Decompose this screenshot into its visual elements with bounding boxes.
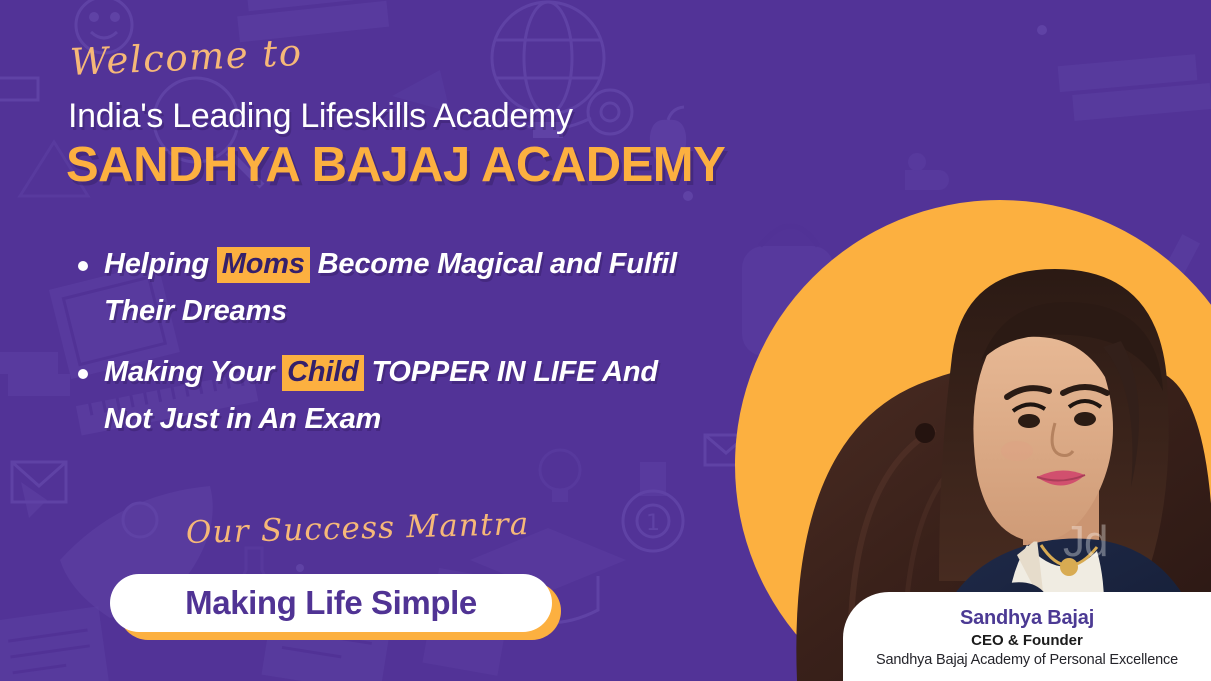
mantra-pill-button[interactable]: Making Life Simple [110,574,552,632]
bullet-text-before: Making Your [104,356,274,388]
mantra-pill-label: Making Life Simple [185,584,477,622]
bullet-text-before: Helping [104,248,209,280]
list-item: Helping Moms Become Magical and Fulfil T… [72,241,712,335]
promo-banner: 1 [0,0,1211,681]
welcome-script-text: Welcome to [69,34,303,81]
page-subtitle: India's Leading Lifeskills Academy [68,96,573,137]
founder-name: Sandhya Bajaj [960,606,1094,631]
bullet-highlight-child: Child [282,355,364,391]
founder-role: CEO & Founder [971,631,1083,651]
list-item: Making Your Child TOPPER IN LIFE And Not… [72,349,712,443]
founder-organization: Sandhya Bajaj Academy of Personal Excell… [876,651,1178,671]
bullet-highlight-moms: Moms [217,247,310,283]
founder-name-card: Sandhya Bajaj CEO & Founder Sandhya Baja… [843,592,1211,681]
value-proposition-list: Helping Moms Become Magical and Fulfil T… [72,241,712,457]
svg-text:1: 1 [646,511,660,536]
justdial-watermark: Jd [1063,520,1107,564]
success-mantra-label: Our Success Mantra [186,509,530,549]
page-title: SANDHYA BAJAJ ACADEMY [66,136,725,195]
